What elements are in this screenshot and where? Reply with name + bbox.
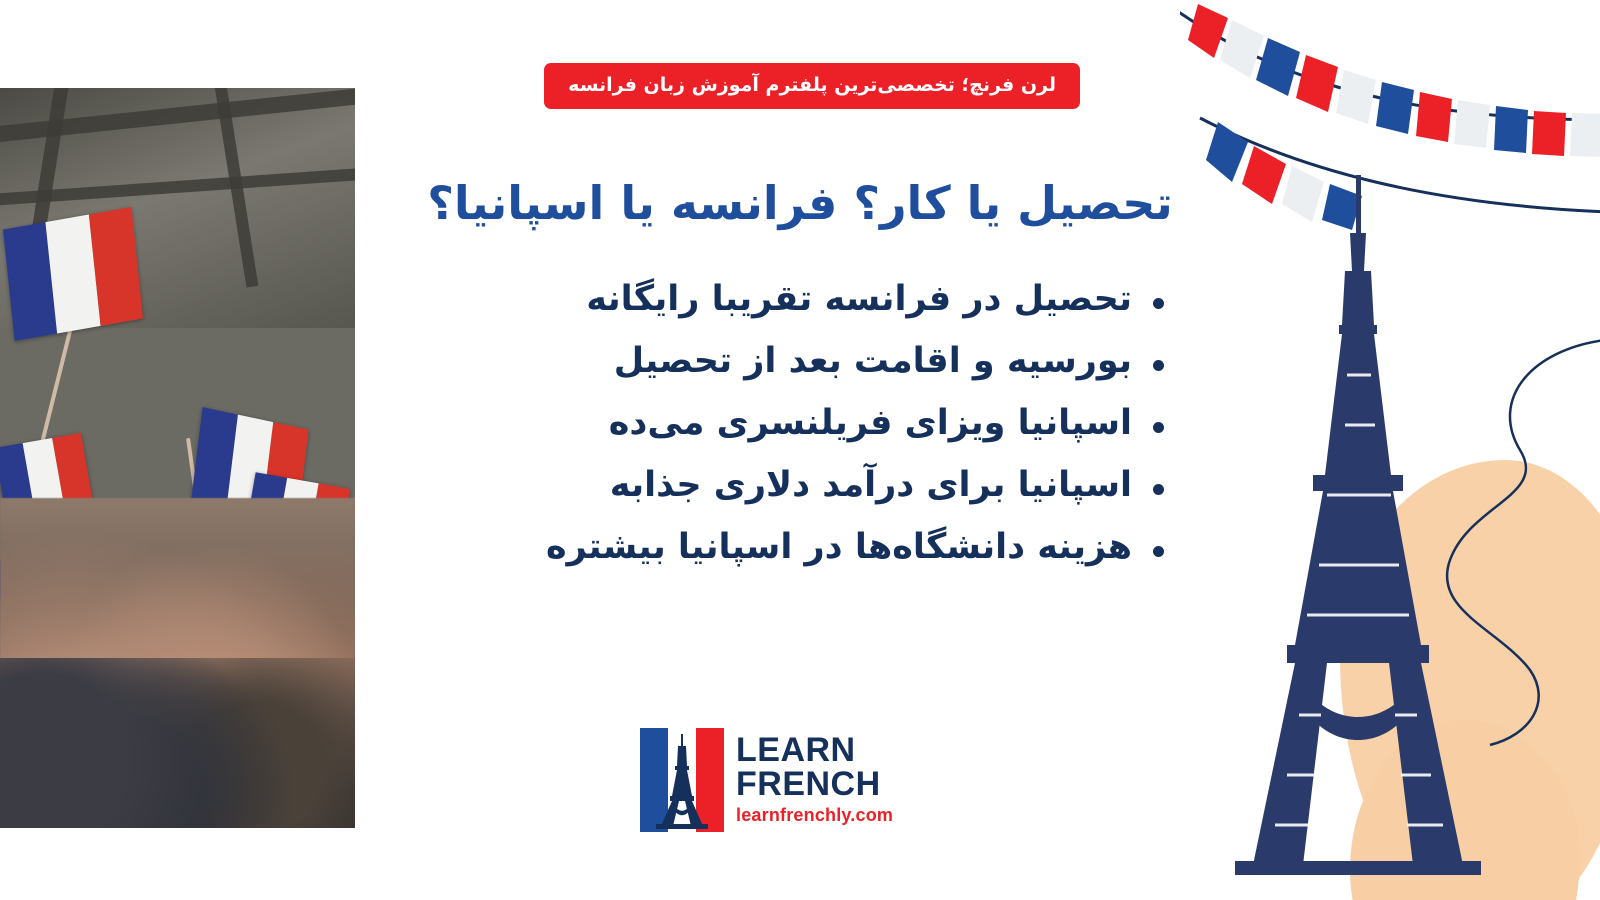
bullet-dot-icon [1153, 484, 1164, 495]
list-item: تحصیل در فرانسه تقریبا رایگانه [390, 282, 1170, 317]
crowd-flags-photo [0, 88, 355, 828]
bullet-dot-icon [1153, 422, 1164, 433]
logo-flag-eiffel-icon [640, 728, 724, 832]
brand-logo: LEARN FRENCH learnfrenchly.com [640, 725, 910, 835]
bullet-dot-icon [1153, 298, 1164, 309]
logo-eiffel-icon [640, 728, 724, 832]
benefits-list: تحصیل در فرانسه تقریبا رایگانه بورسیه و … [390, 282, 1170, 592]
list-item: اسپانیا برای درآمد دلاری جذابه [390, 468, 1170, 503]
status-badge: لرن فرنچ؛ تخصصی‌ترین پلفترم آموزش زبان ف… [544, 63, 1080, 109]
logo-website: learnfrenchly.com [736, 805, 893, 826]
list-item: هزینه دانشگاه‌ها در اسپانیا بیشتره [390, 530, 1170, 565]
logo-line-2: FRENCH [736, 768, 893, 801]
bullet-dot-icon [1153, 546, 1164, 557]
eiffel-tower-illustration [1195, 175, 1525, 875]
french-flag [3, 207, 143, 341]
list-item: اسپانیا ویزای فریلنسری می‌ده [390, 406, 1170, 441]
page-title: تحصیل یا کار؟ فرانسه یا اسپانیا؟ [400, 172, 1200, 234]
photo-crowd-foreground [0, 658, 355, 828]
list-item: بورسیه و اقامت بعد از تحصیل [390, 344, 1170, 379]
list-item-label: اسپانیا ویزای فریلنسری می‌ده [609, 406, 1132, 441]
slide-canvas: لرن فرنچ؛ تخصصی‌ترین پلفترم آموزش زبان ف… [0, 0, 1600, 900]
bullet-dot-icon [1153, 360, 1164, 371]
list-item-label: اسپانیا برای درآمد دلاری جذابه [610, 468, 1132, 503]
list-item-label: هزینه دانشگاه‌ها در اسپانیا بیشتره [546, 530, 1132, 565]
list-item-label: بورسیه و اقامت بعد از تحصیل [614, 344, 1132, 379]
logo-line-1: LEARN [736, 734, 893, 767]
list-item-label: تحصیل در فرانسه تقریبا رایگانه [586, 282, 1132, 317]
logo-wordmark: LEARN FRENCH learnfrenchly.com [736, 734, 893, 826]
